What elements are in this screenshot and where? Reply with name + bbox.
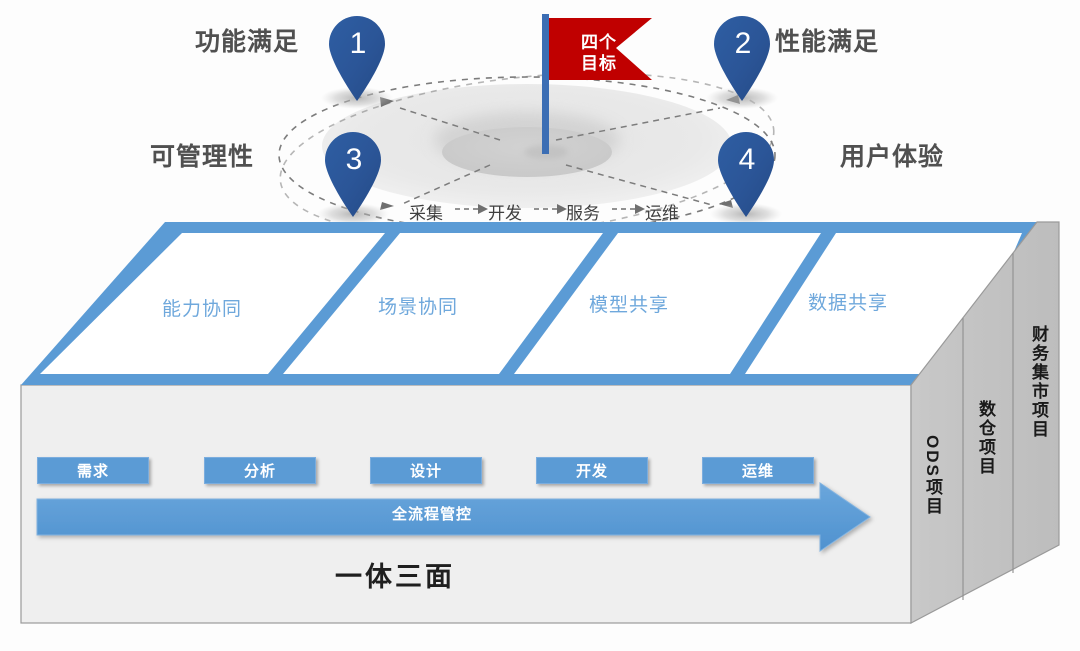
flow-step-collect: 采集 [409,199,443,224]
pin-1: 1 [329,14,387,106]
flag-label: 四个 目标 [563,32,635,74]
stage-button-requirement[interactable]: 需求 [37,457,149,484]
top-panel-label-capability-sync: 能力协同 [162,294,242,321]
diagram-graphics [0,0,1080,651]
front-face-title: 一体三面 [0,555,790,594]
top-panel-label-model-sharing: 模型共享 [589,290,669,317]
stage-button-development[interactable]: 开发 [536,457,648,484]
pin-2: 2 [714,14,772,106]
side-label-finance-mart-project: 财务集市项目 [1026,325,1051,439]
stage-button-design[interactable]: 设计 [370,457,482,484]
pin-number-2: 2 [714,27,772,61]
pin-number-3: 3 [325,143,383,177]
stage-button-operations[interactable]: 运维 [702,457,814,484]
flow-step-operations: 运维 [645,199,679,224]
goal-label-performance: 性能满足 [775,22,879,58]
goal-label-functional: 功能满足 [195,22,299,58]
stage-button-analysis[interactable]: 分析 [204,457,316,484]
pin-number-1: 1 [329,27,387,61]
top-panel-label-scenario-sync: 场景协同 [378,292,458,319]
goal-label-manageability: 可管理性 [150,137,254,173]
pin-3: 3 [325,130,383,222]
pin-number-4: 4 [718,143,776,177]
flag-label-line2: 目标 [563,53,635,74]
top-panel-label-data-sharing: 数据共享 [808,288,888,315]
flow-step-service: 服务 [566,199,600,224]
flag-banner: 四个 目标 [541,10,661,165]
goal-label-user-experience: 用户体验 [840,137,944,173]
diagram-canvas: 功能满足 性能满足 可管理性 用户体验 1 2 3 4 四个 目标 采集 开发 … [0,0,1080,651]
flag-label-line1: 四个 [563,32,635,53]
side-label-ods-project: ODS项目 [920,435,945,516]
side-label-warehouse-project: 数仓项目 [973,400,998,476]
flow-step-develop: 开发 [488,199,522,224]
pin-4: 4 [718,130,776,222]
